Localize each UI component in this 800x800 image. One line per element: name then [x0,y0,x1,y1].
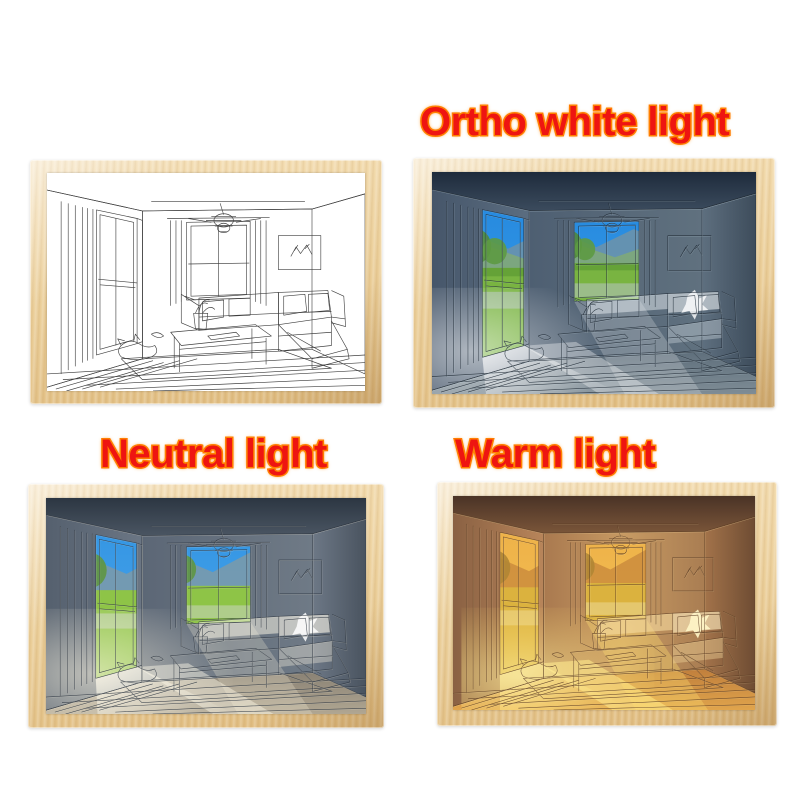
label-ortho-white-light: Ortho white light [420,100,729,145]
scene-lit-warm [453,496,755,710]
frame-panel-neutral [28,484,384,728]
scene-lit-ortho [432,172,756,394]
label-neutral-light: Neutral light [100,432,327,477]
label-warm-light: Warm light [455,432,655,477]
frame-panel-ortho-white [413,158,775,408]
scene-lit-neutral [46,498,366,714]
lineart-svg [47,173,365,391]
artwork-viewport-warm [453,496,755,710]
frame-panel-warm [437,482,777,726]
product-image-stage: Ortho white light Neutral light Warm lig… [0,0,800,800]
lit-scene-svg [46,498,366,714]
scene-lineart-off [47,173,365,391]
artwork-viewport-neutral [46,498,366,714]
artwork-viewport-off [47,173,365,391]
lit-scene-svg [432,172,756,394]
artwork-viewport-ortho [432,172,756,394]
frame-panel-off [30,160,382,404]
lit-scene-svg [453,496,755,710]
